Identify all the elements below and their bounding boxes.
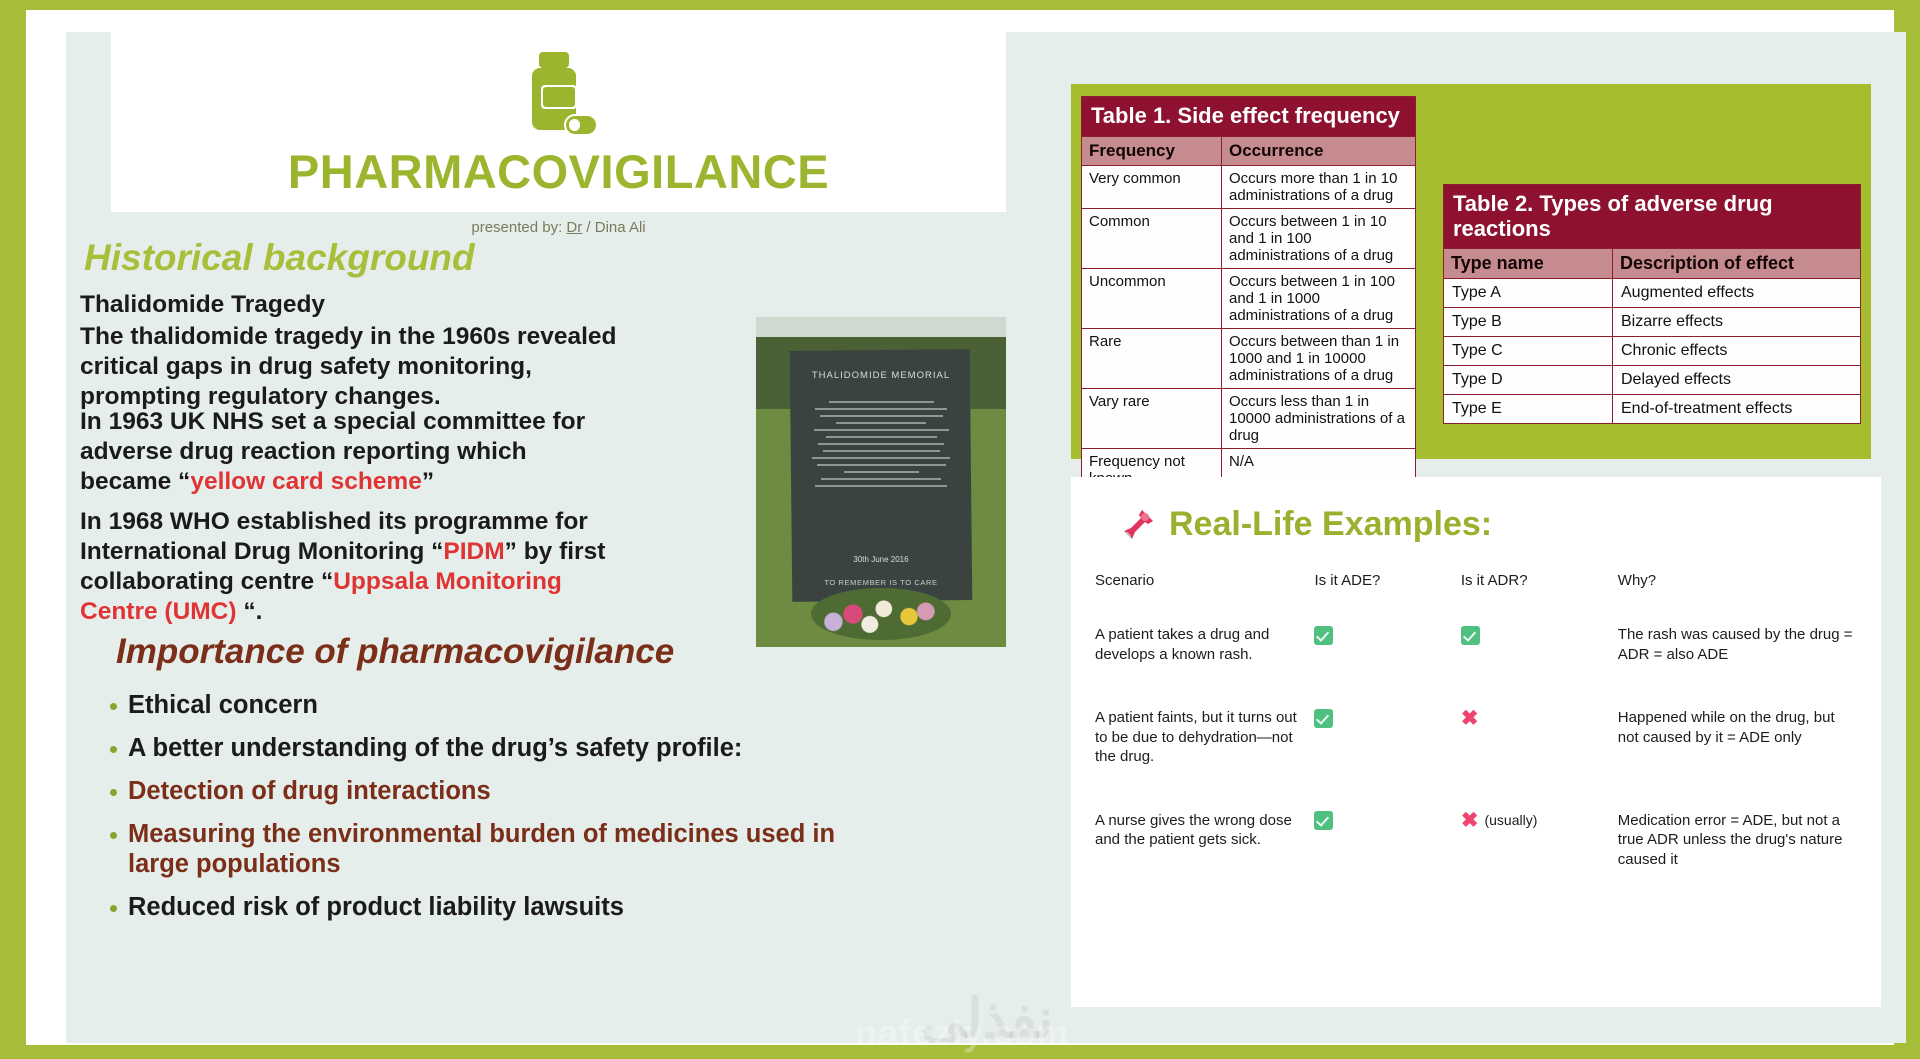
examples-header-why: Why? (1612, 572, 1864, 615)
table1-row: UncommonOccurs between 1 in 100 and 1 in… (1082, 268, 1416, 328)
memorial-date: 30th June 2016 (756, 555, 1006, 564)
importance-bullet: A better understanding of the drug’s saf… (106, 733, 876, 763)
table2-body: Type AAugmented effectsType BBizarre eff… (1444, 279, 1861, 424)
table1-row: Vary rareOccurs less than 1 in 10000 adm… (1082, 388, 1416, 448)
nhs-1963-paragraph: In 1963 UK NHS set a special committee f… (80, 407, 620, 497)
table1-wrapper: Table 1. Side effect frequency Frequency… (1081, 96, 1416, 492)
check-icon (1461, 626, 1480, 645)
examples-adr-cell (1455, 615, 1612, 698)
table1-row-cell: Occurs between than 1 in 1000 and 1 in 1… (1222, 328, 1416, 388)
table1-row-cell: Uncommon (1082, 268, 1222, 328)
table1-row: Very commonOccurs more than 1 in 10 admi… (1082, 165, 1416, 208)
page-title: PHARMACOVIGILANCE (111, 144, 1006, 199)
importance-heading: Importance of pharmacovigilance (116, 632, 836, 672)
table2-row: Type BBizarre effects (1444, 308, 1861, 337)
table2-row-cell: Type B (1444, 308, 1613, 337)
thalidomide-paragraph: The thalidomide tragedy in the 1960s rev… (80, 322, 620, 412)
presented-by: presented by: Dr / Dina Ali (111, 219, 1006, 236)
examples-row: A patient takes a drug and develops a kn… (1089, 615, 1864, 698)
table2-caption: Table 2. Types of adverse drug reactions (1444, 185, 1861, 249)
presented-dr: Dr (566, 219, 582, 236)
examples-scenario-cell: A patient faints, but it turns out to be… (1089, 698, 1308, 801)
cross-icon: ✖ (1461, 709, 1479, 728)
who-1968-text-c: “. (237, 598, 263, 625)
presented-name: / Dina Ali (582, 219, 645, 236)
table2-header-description: Description of effect (1613, 249, 1861, 279)
slide-canvas: PHARMACOVIGILANCE presented by: Dr / Din… (66, 32, 1906, 1043)
examples-row: A patient faints, but it turns out to be… (1089, 698, 1864, 801)
memorial-stone-title: THALIDOMIDE MEMORIAL (756, 370, 1006, 381)
mark-note: (usually) (1484, 812, 1537, 828)
table1-row: RareOccurs between than 1 in 1000 and 1 … (1082, 328, 1416, 388)
real-life-examples-heading: Real-Life Examples: (1121, 505, 1492, 544)
table1-row-cell: Occurs less than 1 in 10000 administrati… (1222, 388, 1416, 448)
pidm-highlight: PIDM (443, 538, 504, 565)
examples-row: A nurse gives the wrong dose and the pat… (1089, 801, 1864, 904)
importance-bullet-list: Ethical concernA better understanding of… (106, 690, 876, 935)
table1-row-cell: Vary rare (1082, 388, 1222, 448)
memorial-footer: TO REMEMBER IS TO CARE (756, 578, 1006, 587)
table1-row-cell: Occurs between 1 in 100 and 1 in 1000 ad… (1222, 268, 1416, 328)
examples-scenario-cell: A nurse gives the wrong dose and the pat… (1089, 801, 1308, 904)
examples-ade-cell (1308, 698, 1454, 801)
table2-header-row: Type name Description of effect (1444, 249, 1861, 279)
table1-body: Very commonOccurs more than 1 in 10 admi… (1082, 165, 1416, 491)
table1-row-cell: Rare (1082, 328, 1222, 388)
examples-body: A patient takes a drug and develops a kn… (1089, 615, 1864, 903)
real-life-examples-label: Real-Life Examples: (1169, 505, 1492, 544)
table2-row: Type DDelayed effects (1444, 366, 1861, 395)
yellow-card-scheme-highlight: yellow card scheme (190, 468, 422, 495)
real-life-examples-panel: Real-Life Examples: Scenario Is it ADE? … (1071, 477, 1881, 1007)
importance-bullet: Detection of drug interactions (106, 776, 876, 806)
medicine-bottle-icon (514, 52, 604, 144)
table1-row-cell: Common (1082, 208, 1222, 268)
table2-row-cell: Type A (1444, 279, 1613, 308)
examples-why-cell: Happened while on the drug, but not caus… (1612, 698, 1864, 801)
cross-icon: ✖ (1461, 811, 1479, 830)
table1-row-cell: Occurs more than 1 in 10 administrations… (1222, 165, 1416, 208)
memorial-stone-inscription (806, 396, 956, 492)
examples-ade-cell (1308, 801, 1454, 904)
table1-row-cell: Occurs between 1 in 10 and 1 in 100 admi… (1222, 208, 1416, 268)
table2-row-cell: Type C (1444, 337, 1613, 366)
table2-row-cell: Augmented effects (1613, 279, 1861, 308)
table2-row: Type AAugmented effects (1444, 279, 1861, 308)
examples-adr-cell: ✖(usually) (1455, 801, 1612, 904)
table1-row: CommonOccurs between 1 in 10 and 1 in 10… (1082, 208, 1416, 268)
examples-why-cell: The rash was caused by the drug = ADR = … (1612, 615, 1864, 698)
examples-adr-cell: ✖ (1455, 698, 1612, 801)
check-icon (1314, 811, 1333, 830)
table1-header-row: Frequency Occurrence (1082, 136, 1416, 165)
table2-wrapper: Table 2. Types of adverse drug reactions… (1443, 184, 1861, 424)
adr-types-table: Table 2. Types of adverse drug reactions… (1443, 184, 1861, 424)
examples-header-ade: Is it ADE? (1308, 572, 1454, 615)
slide-frame: PHARMACOVIGILANCE presented by: Dr / Din… (26, 10, 1894, 1045)
importance-bullet: Measuring the environmental burden of me… (106, 819, 876, 879)
table2-row-cell: Bizarre effects (1613, 308, 1861, 337)
table1-caption: Table 1. Side effect frequency (1082, 97, 1416, 137)
who-1968-paragraph: In 1968 WHO established its programme fo… (80, 507, 620, 627)
table2-row: Type EEnd-of-treatment effects (1444, 395, 1861, 424)
examples-table: Scenario Is it ADE? Is it ADR? Why? A pa… (1089, 572, 1864, 903)
examples-header-scenario: Scenario (1089, 572, 1308, 615)
table2-row-cell: Delayed effects (1613, 366, 1861, 395)
presented-prefix: presented by: (471, 219, 566, 236)
watermark-url: nafezly.com (855, 1012, 1069, 1054)
pushpin-icon (1121, 508, 1155, 542)
slide-root: PHARMACOVIGILANCE presented by: Dr / Din… (0, 0, 1920, 1059)
table2-row-cell: Chronic effects (1613, 337, 1861, 366)
examples-scenario-cell: A patient takes a drug and develops a kn… (1089, 615, 1308, 698)
examples-header-row: Scenario Is it ADE? Is it ADR? Why? (1089, 572, 1864, 615)
examples-ade-cell (1308, 615, 1454, 698)
table2-row-cell: Type E (1444, 395, 1613, 424)
table2-row-cell: Type D (1444, 366, 1613, 395)
importance-bullet: Reduced risk of product liability lawsui… (106, 892, 876, 922)
check-icon (1314, 709, 1333, 728)
table2-header-type-name: Type name (1444, 249, 1613, 279)
nhs-1963-text-b: ” (422, 468, 434, 495)
table2-row-cell: End-of-treatment effects (1613, 395, 1861, 424)
examples-why-cell: Medication error = ADE, but not a true A… (1612, 801, 1864, 904)
thalidomide-memorial-photo: THALIDOMIDE MEMORIAL 30th June 2016 TO R… (756, 317, 1006, 647)
check-icon (1314, 626, 1333, 645)
importance-bullet: Ethical concern (106, 690, 876, 720)
side-effect-frequency-table: Table 1. Side effect frequency Frequency… (1081, 96, 1416, 492)
table2-row: Type CChronic effects (1444, 337, 1861, 366)
examples-header-adr: Is it ADR? (1455, 572, 1612, 615)
historical-background-heading: Historical background (84, 237, 475, 279)
thalidomide-subheading: Thalidomide Tragedy (80, 290, 620, 320)
title-card: PHARMACOVIGILANCE (111, 32, 1006, 212)
table1-header-frequency: Frequency (1082, 136, 1222, 165)
table1-row-cell: Very common (1082, 165, 1222, 208)
table1-header-occurrence: Occurrence (1222, 136, 1416, 165)
tables-panel: Table 1. Side effect frequency Frequency… (1071, 84, 1871, 459)
